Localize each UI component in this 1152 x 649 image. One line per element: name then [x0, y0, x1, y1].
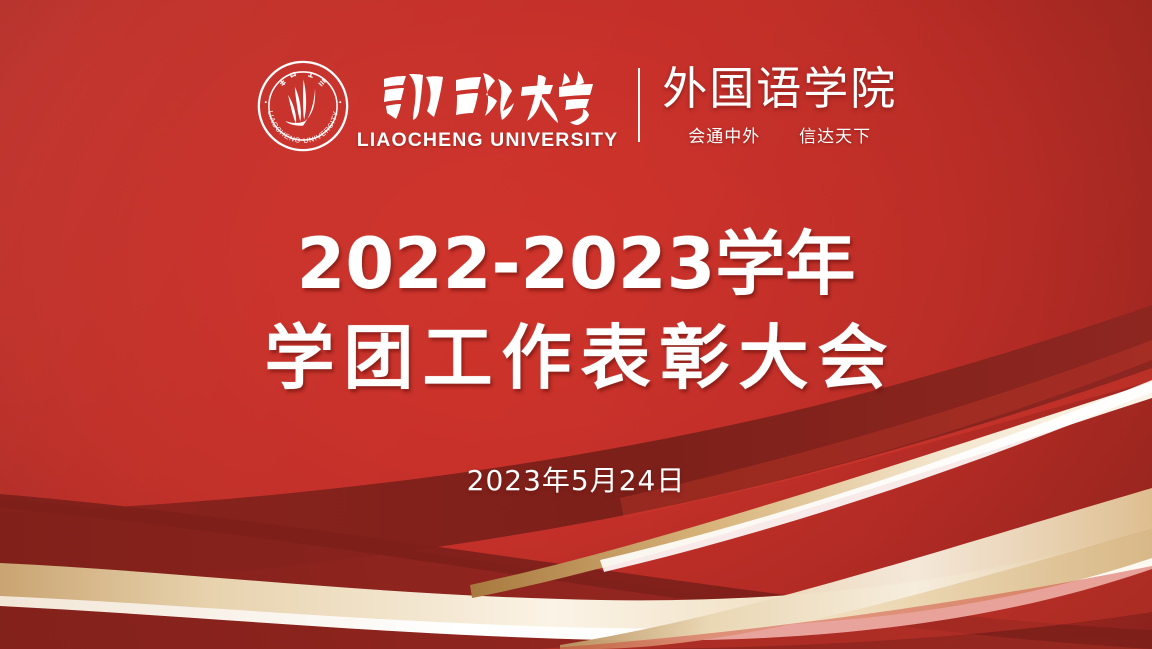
university-name-en: LIAOCHENG UNIVERSITY: [357, 131, 618, 151]
title-slide: LIAOCHENG UNIVERSITY 聊城大学: [0, 0, 1152, 649]
event-date: 2023年5月24日: [0, 459, 1152, 499]
vertical-divider-icon: [638, 68, 640, 142]
university-name-block: 聊城大学: [357, 61, 618, 151]
university-seal-icon: LIAOCHENG UNIVERSITY: [255, 58, 351, 154]
motto-left: 会通中外: [688, 127, 760, 147]
logo-lockup: LIAOCHENG UNIVERSITY 聊城大学: [0, 58, 1152, 154]
page-title-line-1: 2022-2023学年: [0, 218, 1152, 310]
college-name-cn: 外国语学院: [662, 65, 897, 112]
motto-right: 信达天下: [799, 127, 871, 147]
college-block: 外国语学院 会通中外 信达天下: [662, 65, 897, 146]
title-area: 2022-2023学年 学团工作表彰大会: [0, 218, 1152, 406]
page-title-line-2: 学团工作表彰大会: [0, 310, 1152, 406]
college-motto: 会通中外 信达天下: [688, 122, 871, 147]
university-name-cn: 聊城大学: [378, 65, 596, 127]
svg-text:LIAOCHENG UNIVERSITY: LIAOCHENG UNIVERSITY: [266, 110, 340, 145]
